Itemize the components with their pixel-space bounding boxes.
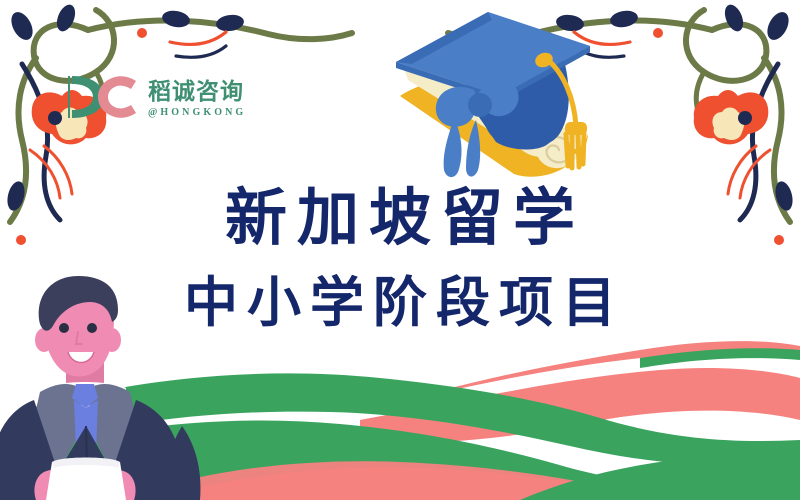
poster-canvas: 稻诚咨询 @HONGKONG 新加坡留学 中小学阶段项目 xyxy=(0,0,800,500)
logo-name-en: @HONGKONG xyxy=(148,108,246,118)
logo-name-cn: 稻诚咨询 xyxy=(148,80,246,103)
dc-monogram-icon xyxy=(66,74,138,120)
brand-logo[interactable]: 稻诚咨询 @HONGKONG xyxy=(66,74,246,120)
logo-text-block: 稻诚咨询 @HONGKONG xyxy=(148,80,246,120)
